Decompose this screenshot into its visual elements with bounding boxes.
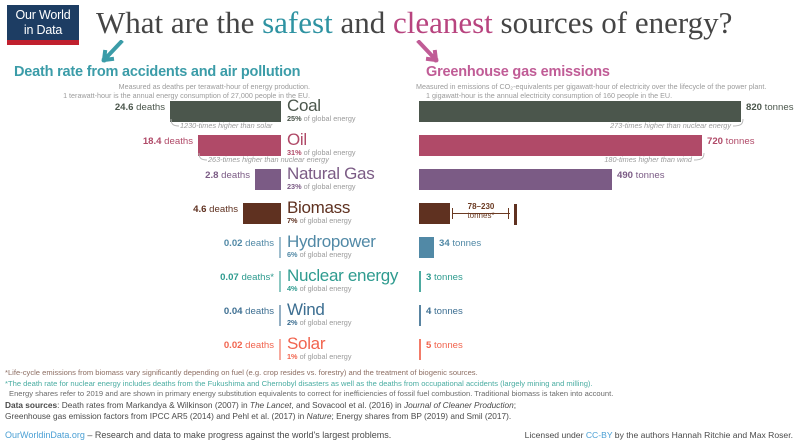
title-cleanest: cleanest bbox=[393, 5, 493, 40]
footnotes: *Life-cycle emissions from biomass vary … bbox=[5, 368, 797, 423]
chart-row-nuclear-energy: 0.07 deaths*Nuclear energy4% of global e… bbox=[0, 270, 800, 304]
death-rate-bar bbox=[170, 101, 281, 122]
death-rate-label: 2.8 deaths bbox=[205, 170, 250, 181]
death-rate-bar bbox=[279, 271, 281, 292]
energy-source-label: Hydropower6% of global energy bbox=[287, 233, 417, 259]
emissions-bar bbox=[419, 203, 450, 224]
energy-source-share: 31% of global energy bbox=[287, 148, 417, 157]
chart-row-natural-gas: 2.8 deathsNatural Gas23% of global energ… bbox=[0, 168, 800, 202]
chart-row-oil: 18.4 deaths263-times higher than nuclear… bbox=[0, 134, 800, 168]
cc-by-link[interactable]: CC-BY bbox=[586, 430, 613, 440]
data-sources-line-2: Greenhouse gas emission factors from IPC… bbox=[5, 411, 797, 422]
data-sources-label: Data sources bbox=[5, 400, 57, 410]
death-rate-annotation: 1230-times higher than solar bbox=[180, 121, 272, 130]
death-rate-label: 24.6 deaths bbox=[115, 102, 165, 113]
sources-text-b: , and Sovacool et al. (2016) in bbox=[291, 400, 404, 410]
energy-source-label: Biomass7% of global energy bbox=[287, 199, 417, 225]
energy-source-name: Coal bbox=[287, 97, 417, 115]
license-notice: Licensed under CC-BY by the authors Hann… bbox=[525, 430, 797, 440]
energy-source-label: Nuclear energy4% of global energy bbox=[287, 267, 417, 293]
energy-source-name: Nuclear energy bbox=[287, 267, 417, 285]
chart-rows: 24.6 deaths1230-times higher than solarC… bbox=[0, 100, 800, 372]
energy-source-share: 1% of global energy bbox=[287, 352, 417, 361]
emissions-annotation: 180-times higher than wind bbox=[512, 155, 692, 164]
energy-source-name: Hydropower bbox=[287, 233, 417, 251]
title-part-2: and bbox=[333, 5, 393, 40]
death-rate-label: 18.4 deaths bbox=[143, 136, 193, 147]
title-part-1: What are the bbox=[96, 5, 262, 40]
energy-source-share: 2% of global energy bbox=[287, 318, 417, 327]
death-rate-bar bbox=[243, 203, 281, 224]
emissions-label: 490 tonnes bbox=[617, 170, 665, 181]
owid-tagline: – Research and data to make progress aga… bbox=[85, 430, 391, 440]
footnote-energy-shares: Energy shares refer to 2019 and are show… bbox=[5, 389, 797, 400]
left-panel-title: Death rate from accidents and air pollut… bbox=[14, 64, 310, 80]
energy-source-share: 23% of global energy bbox=[287, 182, 417, 191]
chart-row-solar: 0.02 deathsSolar1% of global energy5 ton… bbox=[0, 338, 800, 372]
left-panel-subtitle-1: Measured as deaths per terawatt-hour of … bbox=[14, 82, 310, 91]
energy-source-name: Wind bbox=[287, 301, 417, 319]
emissions-label: 4 tonnes bbox=[426, 306, 463, 317]
range-end-bar bbox=[514, 204, 517, 225]
chart-row-hydropower: 0.02 deathsHydropower6% of global energy… bbox=[0, 236, 800, 270]
death-rate-bar bbox=[279, 305, 281, 326]
range-cap-high bbox=[508, 208, 509, 219]
sources2-text-a: Greenhouse gas emission factors from IPC… bbox=[5, 411, 307, 421]
energy-source-label: Solar1% of global energy bbox=[287, 335, 417, 361]
death-rate-label: 0.02 deaths bbox=[224, 238, 274, 249]
death-rate-bar bbox=[255, 169, 281, 190]
emissions-bar bbox=[419, 305, 421, 326]
energy-source-name: Oil bbox=[287, 131, 417, 149]
title-safest: safest bbox=[262, 5, 333, 40]
death-rate-label: 0.02 deaths bbox=[224, 340, 274, 351]
emissions-label: 720 tonnes bbox=[707, 136, 755, 147]
range-cap-low bbox=[452, 208, 453, 219]
chart-row-coal: 24.6 deaths1230-times higher than solarC… bbox=[0, 100, 800, 134]
emissions-bar bbox=[419, 135, 702, 156]
data-sources-line-1: Data sources: Death rates from Markandya… bbox=[5, 400, 797, 411]
emissions-label: 820 tonnes bbox=[746, 102, 794, 113]
annotation-leader-line bbox=[693, 152, 707, 164]
owid-logo[interactable]: Our World in Data bbox=[7, 5, 79, 45]
right-panel-title: Greenhouse gas emissions bbox=[416, 64, 800, 80]
energy-source-name: Biomass bbox=[287, 199, 417, 217]
footer-bottom-bar: OurWorldinData.org – Research and data t… bbox=[5, 425, 797, 441]
death-rate-bar bbox=[279, 237, 281, 258]
emissions-label: 3 tonnes bbox=[426, 272, 463, 283]
energy-source-name: Natural Gas bbox=[287, 165, 417, 183]
emissions-bar bbox=[419, 169, 612, 190]
infographic-root: Our World in Data What are the safest an… bbox=[0, 0, 800, 441]
emissions-bar bbox=[419, 101, 741, 122]
title-part-3: sources of energy? bbox=[493, 5, 733, 40]
logo-line-2: in Data bbox=[7, 23, 79, 38]
footnote-biomass: *Life-cycle emissions from biomass vary … bbox=[5, 368, 797, 379]
emissions-range-marker: 78–230tonnes* bbox=[450, 203, 512, 224]
emissions-label: 34 tonnes bbox=[439, 238, 481, 249]
license-post: by the authors Hannah Ritchie and Max Ro… bbox=[612, 430, 793, 440]
sources-text-c: ; bbox=[514, 400, 516, 410]
license-pre: Licensed under bbox=[525, 430, 586, 440]
annotation-leader-line bbox=[168, 118, 180, 130]
right-panel-subtitle-1: Measured in emissions of CO₂-equivalents… bbox=[416, 82, 800, 91]
annotation-leader-line bbox=[732, 118, 746, 130]
emissions-annotation: 273-times higher than nuclear energy bbox=[551, 121, 731, 130]
death-rate-label: 0.04 deaths bbox=[224, 306, 274, 317]
death-rate-label: 0.07 deaths* bbox=[220, 272, 274, 283]
energy-source-label: Oil31% of global energy bbox=[287, 131, 417, 157]
sources-italic-jcp: Journal of Cleaner Production bbox=[404, 400, 514, 410]
sources-italic-lancet: The Lancet bbox=[250, 400, 292, 410]
left-panel-header: Death rate from accidents and air pollut… bbox=[14, 64, 310, 100]
emissions-bar bbox=[419, 271, 421, 292]
chart-row-wind: 0.04 deathsWind2% of global energy4 tonn… bbox=[0, 304, 800, 338]
logo-line-1: Our World bbox=[7, 8, 79, 23]
death-rate-label: 4.6 deaths bbox=[193, 204, 238, 215]
sources-text-a: : Death rates from Markandya & Wilkinson… bbox=[57, 400, 250, 410]
emissions-label: 5 tonnes bbox=[426, 340, 463, 351]
right-panel-header: Greenhouse gas emissions Measured in emi… bbox=[416, 64, 800, 100]
death-rate-bar bbox=[198, 135, 281, 156]
energy-source-label: Coal25% of global energy bbox=[287, 97, 417, 123]
energy-source-name: Solar bbox=[287, 335, 417, 353]
death-rate-bar bbox=[279, 339, 281, 360]
footnote-nuclear: *The death rate for nuclear energy inclu… bbox=[5, 379, 797, 390]
energy-source-label: Wind2% of global energy bbox=[287, 301, 417, 327]
energy-source-share: 6% of global energy bbox=[287, 250, 417, 259]
energy-source-share: 4% of global energy bbox=[287, 284, 417, 293]
annotation-leader-line bbox=[196, 152, 208, 164]
sources2-text-b: ; Energy shares from BP (2019) and Smil … bbox=[332, 411, 512, 421]
energy-source-share: 25% of global energy bbox=[287, 114, 417, 123]
energy-source-share: 7% of global energy bbox=[287, 216, 417, 225]
emissions-bar bbox=[419, 339, 421, 360]
range-value-label: 78–230tonnes* bbox=[454, 203, 508, 220]
emissions-bar bbox=[419, 237, 434, 258]
sources-italic-nature: Nature bbox=[307, 411, 332, 421]
energy-source-label: Natural Gas23% of global energy bbox=[287, 165, 417, 191]
page-title: What are the safest and cleanest sources… bbox=[96, 4, 732, 42]
owid-website-link[interactable]: OurWorldinData.org bbox=[5, 430, 85, 440]
owid-attribution: OurWorldinData.org – Research and data t… bbox=[5, 425, 391, 441]
chart-row-biomass: 4.6 deathsBiomass7% of global energy78–2… bbox=[0, 202, 800, 236]
